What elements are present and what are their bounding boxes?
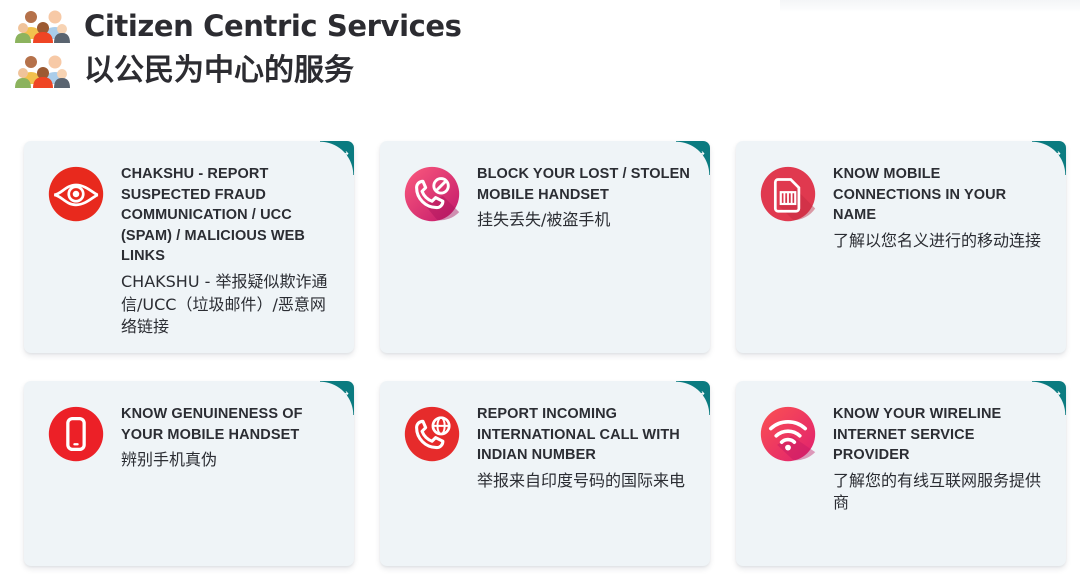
family-group-emoji-icon-secondary bbox=[14, 53, 70, 89]
card-title-english: KNOW YOUR WIRELINE INTERNET SERVICE PROV… bbox=[833, 404, 1046, 466]
arrow-right-icon: → bbox=[340, 148, 349, 159]
arrow-right-icon: → bbox=[696, 388, 705, 399]
arrow-right-icon: → bbox=[1052, 148, 1061, 159]
card-title-chinese: 了解您的有线互联网服务提供商 bbox=[833, 470, 1046, 515]
services-grid: → CHAKSHU - REPORT SUSPECTED FRAUD COMMU… bbox=[24, 141, 1056, 566]
service-card-mobile-connections[interactable]: → KNOW MOBILE CONNECTIONS IN YOUR NA bbox=[736, 141, 1066, 353]
header-row-chinese: 以公民为中心的服务 bbox=[14, 53, 1080, 89]
service-card-international-call[interactable]: → REPORT INCOMING INTERNATIONAL CALL WIT… bbox=[380, 381, 710, 566]
arrow-right-icon: → bbox=[340, 388, 349, 399]
service-card-handset-genuineness[interactable]: → KNOW GENUINENESS OF YOUR MOBILE HANDSE… bbox=[24, 381, 354, 566]
service-card-wireline-isp[interactable]: → bbox=[736, 381, 1066, 566]
card-title-english: BLOCK YOUR LOST / STOLEN MOBILE HANDSET bbox=[477, 164, 690, 205]
eye-icon bbox=[47, 165, 105, 223]
page-header: Citizen Centric Services 以公民为中心的服务 bbox=[0, 0, 1080, 89]
service-card-chakshu[interactable]: → CHAKSHU - REPORT SUSPECTED FRAUD COMMU… bbox=[24, 141, 354, 353]
card-corner-badge[interactable]: → bbox=[1032, 141, 1066, 175]
phone-blocked-icon bbox=[403, 165, 461, 223]
page-title-chinese: 以公民为中心的服务 bbox=[84, 55, 354, 87]
card-title-chinese: 辨别手机真伪 bbox=[121, 449, 334, 472]
service-card-block-lost-handset[interactable]: → bbox=[380, 141, 710, 353]
card-corner-badge[interactable]: → bbox=[676, 141, 710, 175]
wifi-icon bbox=[759, 405, 817, 463]
card-title-english: KNOW GENUINENESS OF YOUR MOBILE HANDSET bbox=[121, 404, 334, 445]
arrow-right-icon: → bbox=[1052, 388, 1061, 399]
international-call-icon bbox=[403, 405, 461, 463]
page-title-english: Citizen Centric Services bbox=[84, 12, 462, 41]
family-group-emoji-icon bbox=[14, 8, 70, 44]
arrow-right-icon: → bbox=[696, 148, 705, 159]
card-title-english: CHAKSHU - REPORT SUSPECTED FRAUD COMMUNI… bbox=[121, 164, 334, 267]
card-corner-badge[interactable]: → bbox=[1032, 381, 1066, 415]
card-title-chinese: 了解以您名义进行的移动连接 bbox=[833, 230, 1046, 253]
card-title-english: KNOW MOBILE CONNECTIONS IN YOUR NAME bbox=[833, 164, 1046, 226]
card-title-chinese: CHAKSHU - 举报疑似欺诈通信/UCC（垃圾邮件）/恶意网络链接 bbox=[121, 271, 334, 339]
sim-card-icon bbox=[759, 165, 817, 223]
citizen-centric-services-page: Citizen Centric Services 以公民为中心的服务 bbox=[0, 0, 1080, 582]
mobile-handset-icon bbox=[47, 405, 105, 463]
card-corner-badge[interactable]: → bbox=[320, 141, 354, 175]
card-corner-badge[interactable]: → bbox=[676, 381, 710, 415]
card-corner-badge[interactable]: → bbox=[320, 381, 354, 415]
card-title-english: REPORT INCOMING INTERNATIONAL CALL WITH … bbox=[477, 404, 690, 466]
header-row-english: Citizen Centric Services bbox=[14, 8, 1080, 44]
card-title-chinese: 举报来自印度号码的国际来电 bbox=[477, 470, 690, 493]
card-title-chinese: 挂失丢失/被盗手机 bbox=[477, 209, 690, 232]
